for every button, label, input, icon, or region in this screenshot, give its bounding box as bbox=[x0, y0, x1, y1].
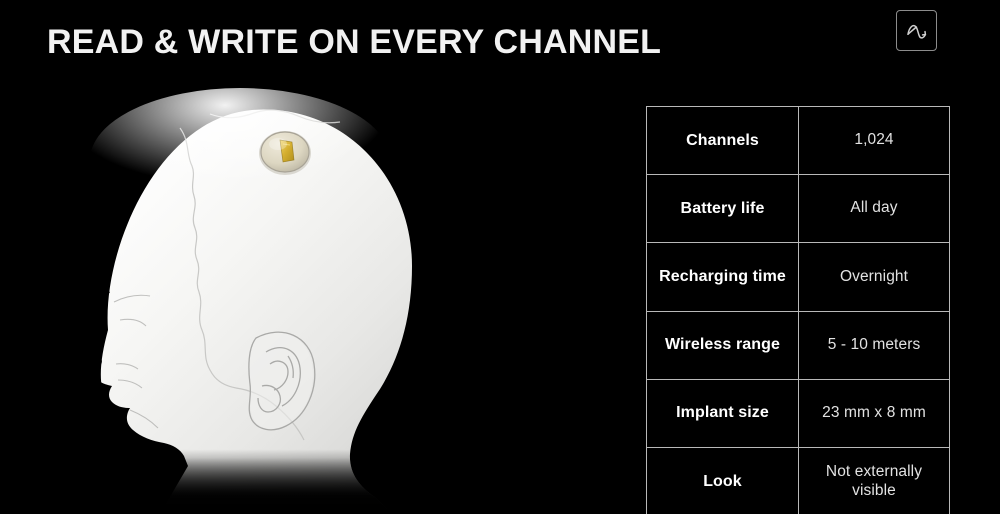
spec-label-wireless-range: Wireless range bbox=[647, 312, 799, 379]
spec-value-implant-size: 23 mm x 8 mm bbox=[799, 380, 949, 447]
human-head-profile-illustration bbox=[40, 80, 460, 514]
table-row: Look Not externally visible bbox=[647, 448, 949, 514]
page-title: READ & WRITE ON EVERY CHANNEL bbox=[47, 25, 661, 61]
spec-value-wireless-range: 5 - 10 meters bbox=[799, 312, 949, 379]
spec-label-look: Look bbox=[647, 448, 799, 514]
table-row: Implant size 23 mm x 8 mm bbox=[647, 380, 949, 448]
table-row: Battery life All day bbox=[647, 175, 949, 243]
brain-implant bbox=[259, 131, 311, 175]
spec-value-recharging-time: Overnight bbox=[799, 243, 949, 310]
table-row: Channels 1,024 bbox=[647, 107, 949, 175]
spec-value-battery-life: All day bbox=[799, 175, 949, 242]
spec-label-recharging-time: Recharging time bbox=[647, 243, 799, 310]
specifications-table: Channels 1,024 Battery life All day Rech… bbox=[646, 106, 950, 514]
spec-label-channels: Channels bbox=[647, 107, 799, 174]
neural-spike-waveform-icon bbox=[905, 21, 929, 41]
spec-label-battery-life: Battery life bbox=[647, 175, 799, 242]
spec-value-look: Not externally visible bbox=[799, 448, 949, 514]
spec-label-implant-size: Implant size bbox=[647, 380, 799, 447]
table-row: Recharging time Overnight bbox=[647, 243, 949, 311]
table-row: Wireless range 5 - 10 meters bbox=[647, 312, 949, 380]
spec-value-channels: 1,024 bbox=[799, 107, 949, 174]
brand-logo bbox=[896, 10, 937, 51]
